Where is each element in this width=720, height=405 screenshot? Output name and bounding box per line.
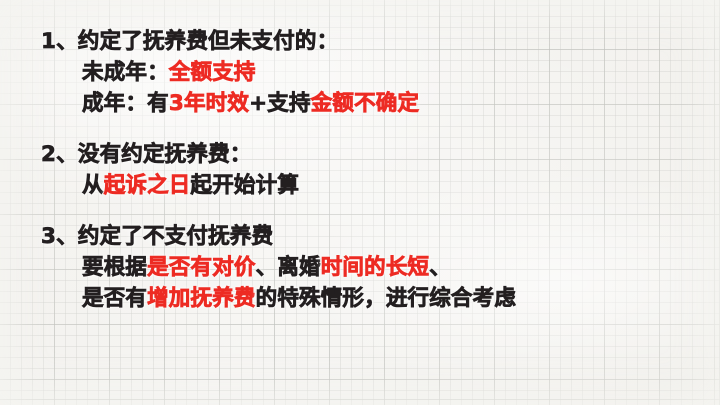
highlight-text: 起诉之日 (104, 173, 191, 198)
list-item-detail-line: 成年：有3年时效+支持金额不确定 (0, 88, 720, 119)
list-item-number: 3、 (41, 221, 78, 252)
body-text: +支持 (249, 91, 311, 116)
body-text: 、 (429, 255, 451, 280)
list-item-heading: 2、没有约定抚养费： (0, 139, 720, 170)
list-item-detail-line: 未成年：全额支持 (0, 57, 720, 88)
list-item-detail-line: 要根据是否有对价、离婚时间的长短、 (0, 252, 720, 283)
list-item: 3、约定了不支付抚养费要根据是否有对价、离婚时间的长短、是否有增加抚养费的特殊情… (0, 221, 720, 314)
highlight-text: 金额不确定 (311, 91, 420, 116)
list-item-number: 1、 (41, 26, 78, 57)
list-item-detail-line: 是否有增加抚养费的特殊情形，进行综合考虑 (0, 283, 720, 314)
body-text: 是否有 (82, 286, 147, 311)
body-text: 从 (82, 173, 104, 198)
list-item-heading: 3、约定了不支付抚养费 (0, 221, 720, 252)
body-text: 约定了不支付抚养费 (78, 224, 273, 249)
section-spacer (0, 201, 720, 221)
highlight-text: 是否有对价 (147, 255, 256, 280)
highlight-text: 3年时效 (169, 91, 249, 116)
highlight-text: 全额支持 (169, 60, 256, 85)
body-text: 成年：有 (82, 91, 169, 116)
section-spacer (0, 119, 720, 139)
highlight-text: 增加抚养费 (147, 286, 256, 311)
list-item-detail-line: 从起诉之日起开始计算 (0, 170, 720, 201)
highlight-text: 时间的长短 (321, 255, 430, 280)
list-item-number: 2、 (41, 139, 78, 170)
body-text: 没有约定抚养费： (78, 142, 252, 167)
list-item: 2、没有约定抚养费：从起诉之日起开始计算 (0, 139, 720, 201)
text-content: 1、约定了抚养费但未支付的：未成年：全额支持成年：有3年时效+支持金额不确定2、… (0, 0, 720, 405)
body-text: 未成年： (82, 60, 169, 85)
body-text: 约定了抚养费但未支付的： (78, 29, 338, 54)
list-item-heading: 1、约定了抚养费但未支付的： (0, 26, 720, 57)
body-text: 的特殊情形，进行综合考虑 (256, 286, 516, 311)
body-text: 起开始计算 (191, 173, 300, 198)
body-text: 要根据 (82, 255, 147, 280)
body-text: 、离婚 (256, 255, 321, 280)
slide-canvas: 1、约定了抚养费但未支付的：未成年：全额支持成年：有3年时效+支持金额不确定2、… (0, 0, 720, 405)
list-item: 1、约定了抚养费但未支付的：未成年：全额支持成年：有3年时效+支持金额不确定 (0, 26, 720, 119)
